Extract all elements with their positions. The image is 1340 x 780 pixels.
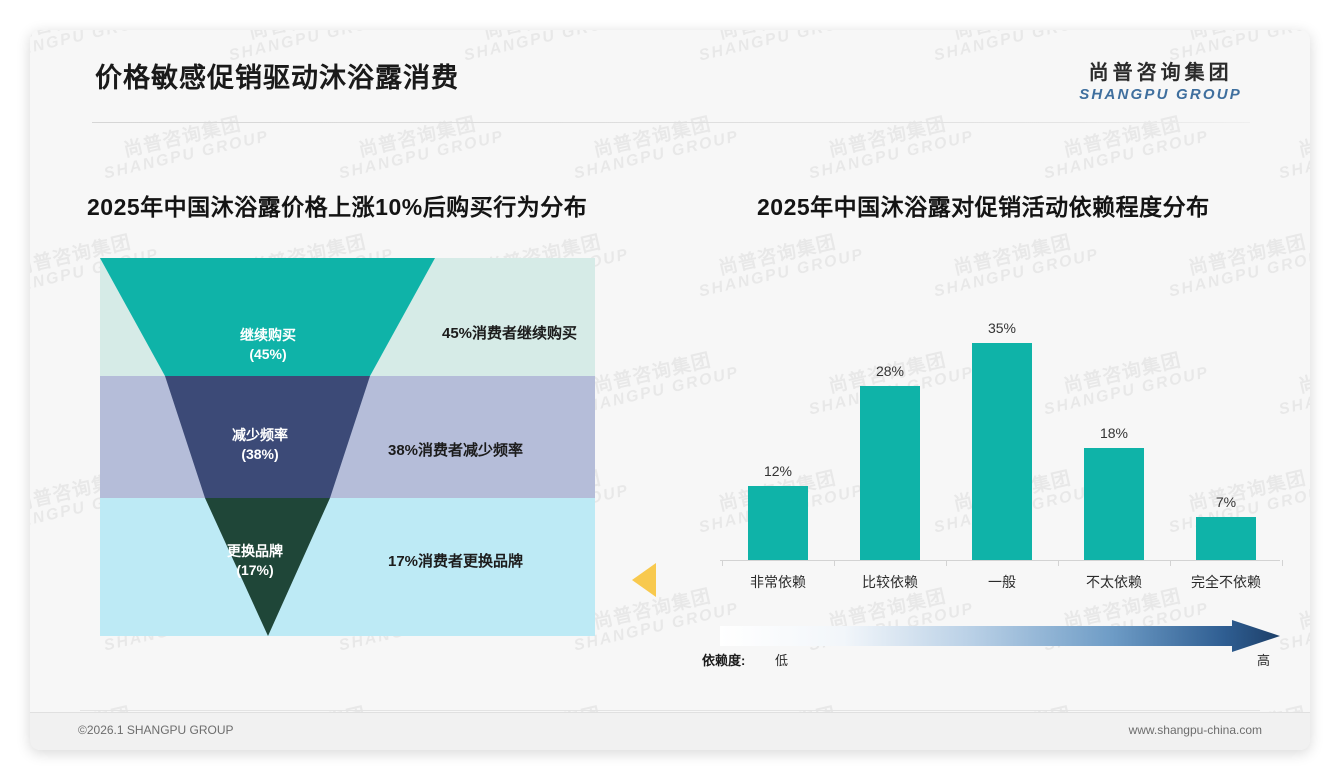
dependency-gradient-legend: 依赖度: 低 高: [720, 620, 1280, 680]
funnel-band-label-0: 45%消费者继续购买: [442, 324, 577, 344]
legend-title: 依赖度:: [702, 650, 745, 669]
bar-value-label: 35%: [988, 320, 1016, 336]
footer-website[interactable]: www.shangpu-china.com: [1129, 723, 1262, 737]
bar-value-label: 12%: [764, 463, 792, 479]
bar-category-label: 比较依赖: [835, 572, 945, 592]
footer-copyright: ©2026.1 SHANGPU GROUP: [78, 723, 234, 737]
bar-axis-tick: [1058, 560, 1059, 566]
bar-plot-area: 12%28%35%18%7%: [720, 280, 1280, 560]
page-title: 价格敏感促销驱动沐浴露消费: [95, 56, 459, 95]
bar-category-label: 完全不依赖: [1171, 572, 1281, 592]
header-divider: [92, 122, 1250, 123]
bar-rect[interactable]: [1084, 448, 1144, 560]
bar-column[interactable]: 35%: [952, 280, 1052, 560]
funnel-band-label-1: 38%消费者减少频率: [388, 441, 523, 461]
bar-axis-tick: [946, 560, 947, 566]
bar-axis-tick: [722, 560, 723, 566]
bar-column[interactable]: 7%: [1176, 280, 1276, 560]
slide-header: 价格敏感促销驱动沐浴露消费 尚普咨询集团 SHANGPU GROUP: [30, 30, 1310, 120]
bar-category-label: 不太依赖: [1059, 572, 1169, 592]
brand-logo-cn: 尚普咨询集团: [1079, 56, 1242, 85]
bar-chart: 12%28%35%18%7% 非常依赖比较依赖一般不太依赖完全不依赖: [720, 280, 1280, 580]
bar-axis-tick: [1170, 560, 1171, 566]
slide-footer: ©2026.1 SHANGPU GROUP www.shangpu-china.…: [30, 712, 1310, 750]
bar-value-label: 18%: [1100, 425, 1128, 441]
triangle-left-icon: [632, 563, 656, 597]
bar-column[interactable]: 28%: [840, 280, 940, 560]
bar-rect[interactable]: [1196, 517, 1256, 560]
bar-x-axis: [720, 560, 1280, 561]
bar-column[interactable]: 12%: [728, 280, 828, 560]
slide-canvas: 尚普咨询集团SHANGPU GROUP尚普咨询集团SHANGPU GROUP尚普…: [30, 30, 1310, 750]
gradient-arrow-icon: [720, 620, 1280, 652]
bar-value-label: 7%: [1216, 494, 1236, 510]
funnel-band-label-2: 17%消费者更换品牌: [388, 552, 523, 572]
bar-axis-tick: [1282, 560, 1283, 566]
bar-category-label: 非常依赖: [723, 572, 833, 592]
bar-category-label: 一般: [947, 572, 1057, 592]
brand-logo: 尚普咨询集团 SHANGPU GROUP: [1079, 56, 1242, 103]
bar-rect[interactable]: [860, 386, 920, 560]
right-chart-title: 2025年中国沐浴露对促销活动依赖程度分布: [757, 188, 1210, 222]
bar-rect[interactable]: [972, 343, 1032, 560]
brand-logo-en: SHANGPU GROUP: [1079, 86, 1242, 103]
legend-high-label: 高: [1257, 650, 1270, 669]
bar-value-label: 28%: [876, 363, 904, 379]
left-chart-title: 2025年中国沐浴露价格上涨10%后购买行为分布: [87, 188, 587, 222]
bar-rect[interactable]: [748, 486, 808, 560]
legend-low-label: 低: [775, 650, 788, 669]
bar-column[interactable]: 18%: [1064, 280, 1164, 560]
bar-axis-tick: [834, 560, 835, 566]
